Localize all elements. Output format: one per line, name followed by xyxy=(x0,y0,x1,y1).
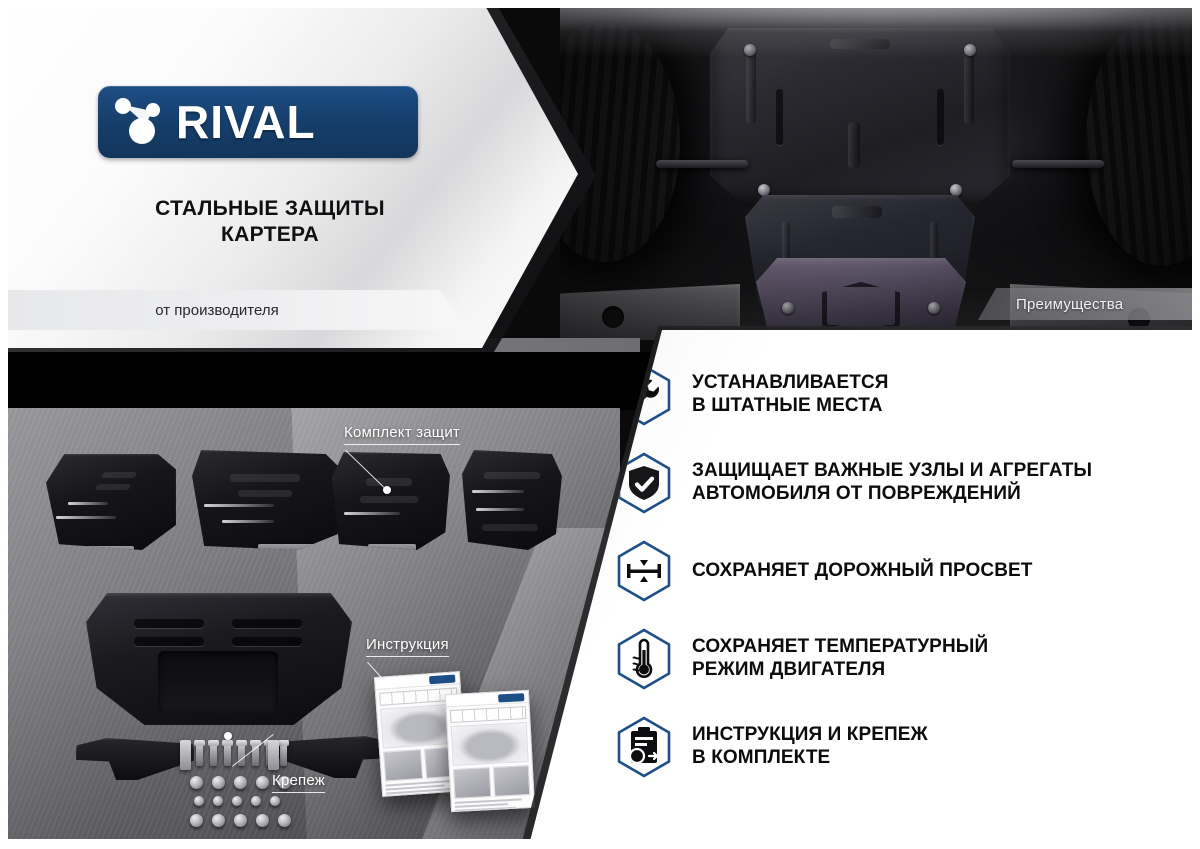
feature-line2: РЕЖИМ ДВИГАТЕЛЯ xyxy=(692,659,988,682)
feature-text-clearance: СОХРАНЯЕТ ДОРОЖНЫЙ ПРОСВЕТ xyxy=(692,560,1033,583)
feature-line1: СОХРАНЯЕТ ТЕМПЕРАТУРНЫЙ xyxy=(692,636,988,659)
rival-logo: RIVAL xyxy=(98,86,418,158)
callout-instruction: Инструкция xyxy=(366,636,449,657)
lock-nuts-row xyxy=(194,796,280,806)
frame-border-top xyxy=(0,0,1200,8)
advantages-badge: Преимущества xyxy=(978,288,1200,320)
thermometer-icon xyxy=(616,628,672,690)
feature-item-protects: ЗАЩИЩАЕТ ВАЖНЫЕ УЗЛЫ И АГРЕГАТЫ АВТОМОБИ… xyxy=(616,452,1176,514)
spacer-strip-right xyxy=(268,740,279,770)
feature-item-install: УСТАНАВЛИВАЕТСЯ В ШТАТНЫЕ МЕСТА xyxy=(616,364,1176,426)
callout-set: Комплект защит xyxy=(344,424,460,445)
skid-piece-1 xyxy=(46,454,176,550)
feature-line1: ЗАЩИЩАЕТ ВАЖНЫЕ УЗЛЫ И АГРЕГАТЫ xyxy=(692,460,1092,483)
instruction-sheet-2 xyxy=(445,690,535,812)
hero-subtitle-band: от производителя xyxy=(0,290,470,330)
feature-text-kit: ИНСТРУКЦИЯ И КРЕПЕЖ В КОМПЛЕКТЕ xyxy=(692,724,928,770)
feature-item-clearance: СОХРАНЯЕТ ДОРОЖНЫЙ ПРОСВЕТ xyxy=(616,540,1176,602)
black-divider-band xyxy=(0,352,660,410)
page-title-line2: КАРТЕРА xyxy=(60,222,480,248)
promo-banner: Преимущества xyxy=(0,0,1200,849)
frame-border-right xyxy=(1192,0,1200,849)
callout-hardware: Крепеж xyxy=(272,772,325,793)
feature-item-kit: ИНСТРУКЦИЯ И КРЕПЕЖ В КОМПЛЕКТЕ xyxy=(616,716,1176,778)
photo-top-fade xyxy=(560,0,1200,58)
feature-text-temperature: СОХРАНЯЕТ ТЕМПЕРАТУРНЫЙ РЕЖИМ ДВИГАТЕЛЯ xyxy=(692,636,988,682)
feature-line1: ИНСТРУКЦИЯ И КРЕПЕЖ xyxy=(692,724,928,747)
skid-plate-main-product xyxy=(86,593,352,725)
skid-piece-2 xyxy=(192,450,344,550)
feature-line2: В ШТАТНЫЕ МЕСТА xyxy=(692,395,889,418)
feature-text-install: УСТАНАВЛИВАЕТСЯ В ШТАТНЫЕ МЕСТА xyxy=(692,372,889,418)
clearance-icon xyxy=(616,540,672,602)
frame-border-left xyxy=(0,0,8,849)
page-title-line1: СТАЛЬНЫЕ ЗАЩИТЫ xyxy=(60,196,480,222)
feature-item-temperature: СОХРАНЯЕТ ТЕМПЕРАТУРНЫЙ РЕЖИМ ДВИГАТЕЛЯ xyxy=(616,628,1176,690)
molecule-icon xyxy=(112,95,174,149)
hero-subtitle: от производителя xyxy=(155,302,314,319)
skid-piece-4 xyxy=(462,450,562,550)
feature-line2: АВТОМОБИЛЯ ОТ ПОВРЕЖДЕНИЙ xyxy=(692,483,1092,506)
nuts-row xyxy=(190,814,291,827)
feature-text-protects: ЗАЩИЩАЕТ ВАЖНЫЕ УЗЛЫ И АГРЕГАТЫ АВТОМОБИ… xyxy=(692,460,1092,506)
feature-line1: СОХРАНЯЕТ ДОРОЖНЫЙ ПРОСВЕТ xyxy=(692,560,1033,583)
feature-line2: В КОМПЛЕКТЕ xyxy=(692,747,928,770)
feature-line1: УСТАНАВЛИВАЕТСЯ xyxy=(692,372,889,395)
mount-bracket-left xyxy=(76,738,194,780)
manual-bolt-icon xyxy=(616,716,672,778)
rival-logo-text: RIVAL xyxy=(176,99,316,145)
skid-piece-3 xyxy=(332,452,450,550)
page-title: СТАЛЬНЫЕ ЗАЩИТЫ КАРТЕРА xyxy=(60,196,480,247)
spacer-strip-left xyxy=(180,740,191,770)
frame-border-bottom xyxy=(0,839,1200,849)
advantages-badge-label: Преимущества xyxy=(1016,296,1123,313)
